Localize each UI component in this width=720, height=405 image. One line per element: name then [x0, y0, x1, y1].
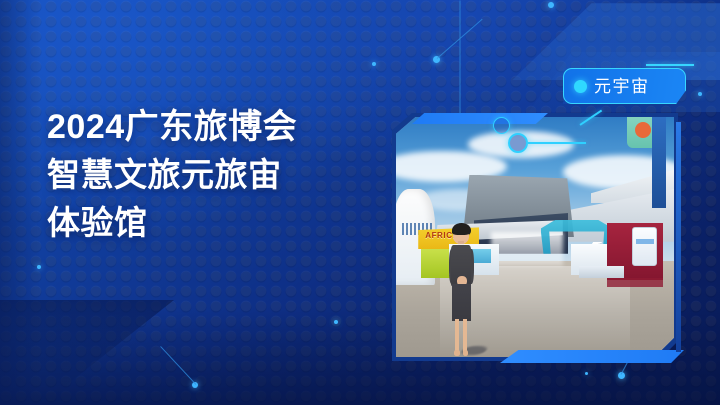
decor-node-icon [37, 265, 41, 269]
status-badge[interactable]: 元宇宙 [563, 68, 686, 104]
page-title: 2024广东旅博会 智慧文旅元旅宙 体验馆 [47, 103, 377, 247]
booth-counter [579, 266, 623, 278]
avatar-leg-right [463, 319, 467, 351]
decor-node-icon [585, 372, 588, 375]
frame-accent-bar-bottom [500, 350, 684, 363]
decor-node-icon [334, 320, 338, 324]
avatar [438, 223, 485, 357]
booth-orange-circle-icon [635, 122, 651, 138]
decor-wire [460, 1, 461, 133]
decor-panel-left-edge [0, 0, 40, 405]
poster-canvas: 2024广东旅博会 智慧文旅元旅宙 体验馆 AFRICA [0, 0, 720, 405]
connector-line-horizontal [528, 142, 586, 144]
distance-haze [491, 232, 563, 266]
frame-accent-edge-right [676, 122, 681, 352]
headline-line-3: 体验馆 [47, 199, 377, 247]
badge-accent-line [646, 64, 694, 66]
decor-node-icon [698, 92, 702, 96]
exhibition-photo: AFRICA [396, 117, 674, 357]
avatar-hair-front [452, 227, 470, 235]
badge-label: 元宇宙 [594, 78, 650, 95]
decor-node-icon [548, 2, 554, 8]
booth-red-carpet [607, 278, 663, 288]
decor-node-icon [372, 62, 376, 66]
connector-ring-icon [508, 133, 528, 153]
avatar-foot-right [463, 350, 469, 355]
headline-line-1: 2024广东旅博会 [47, 103, 377, 151]
avatar-skirt [452, 284, 471, 320]
avatar-foot-left [454, 350, 460, 355]
virtual-exhibition-scene: AFRICA [396, 117, 674, 357]
booth-phone-display [632, 227, 657, 265]
connector-ring-small-icon [493, 117, 510, 134]
cyan-dot-icon [574, 80, 587, 93]
avatar-leg-left [455, 319, 459, 351]
headline-line-2: 智慧文旅元旅宙 [47, 151, 377, 199]
booth-blue-column [652, 117, 666, 208]
frame-accent-bar-top [412, 113, 548, 124]
